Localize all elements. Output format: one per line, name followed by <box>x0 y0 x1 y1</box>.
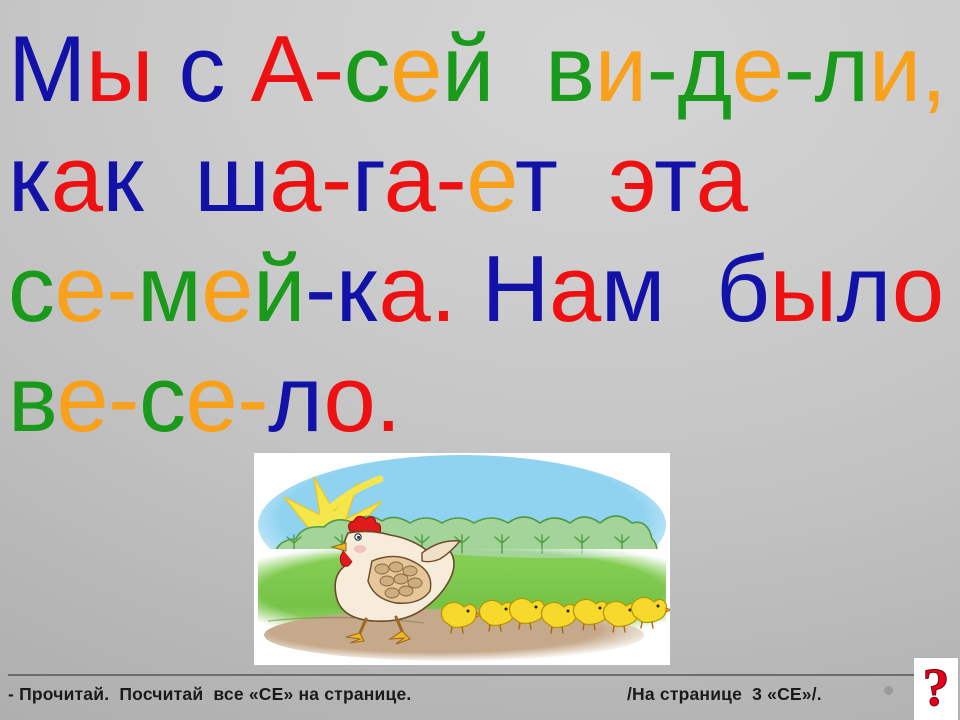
letter: М <box>8 16 86 121</box>
footer-bar: - Прочитай. Посчитай все «СЕ» на страниц… <box>0 666 960 720</box>
text-line-2: как ша-га-ет эта <box>8 124 960 234</box>
letter: е <box>732 16 784 121</box>
letter: а <box>384 126 436 231</box>
letter: - <box>313 16 344 121</box>
letter: и <box>869 16 921 121</box>
letter: - <box>647 16 678 121</box>
letter: е <box>185 346 237 451</box>
letter: е <box>390 16 442 121</box>
letter: ш <box>194 126 269 231</box>
letter: б <box>716 236 769 341</box>
letter: - <box>435 126 466 231</box>
text-line-1: Мы с А-сей ви-де-ли, <box>8 14 960 124</box>
letter: т <box>515 126 558 231</box>
letter: е <box>201 236 253 341</box>
letter: с <box>344 16 391 121</box>
letter <box>143 126 194 231</box>
letter: с <box>8 236 55 341</box>
letter: в <box>8 346 56 451</box>
illustration-svg <box>254 453 670 665</box>
letter: ы <box>769 236 836 341</box>
letter: - <box>321 126 352 231</box>
letter: а <box>696 126 748 231</box>
letter <box>225 16 251 121</box>
question-mark-icon: ? <box>923 660 950 714</box>
letter: а <box>549 236 601 341</box>
letter: , <box>921 16 947 121</box>
letter: л <box>814 16 868 121</box>
letter: - <box>108 346 139 451</box>
footer-divider <box>8 674 938 676</box>
slide-canvas: Мы с А-сей ви-де-ли, как ша-га-ет эта се… <box>0 0 960 720</box>
letter: г <box>352 126 384 231</box>
letter: а <box>379 236 431 341</box>
hen-and-chicks-illustration <box>254 453 670 665</box>
letter <box>153 16 179 121</box>
letter: - <box>106 236 137 341</box>
letter: к <box>336 236 379 341</box>
letter: . <box>375 346 401 451</box>
letter: й <box>442 16 494 121</box>
letter: е <box>466 126 515 231</box>
letter: й <box>253 236 305 341</box>
letter <box>665 236 716 341</box>
letter: о <box>892 236 944 341</box>
reading-text-block: Мы с А-сей ви-де-ли, как ша-га-ет эта се… <box>8 14 960 454</box>
letter <box>557 126 608 231</box>
text-line-3: се-мей-ка. Нам было <box>8 234 960 344</box>
letter: д <box>677 16 731 121</box>
letter <box>456 236 482 341</box>
letter: Н <box>482 236 549 341</box>
text-line-4: ве-се-ло. <box>8 344 960 454</box>
letter: А <box>251 16 313 121</box>
letter: а <box>269 126 321 231</box>
help-button[interactable]: ? <box>914 658 958 720</box>
letter: е <box>55 236 107 341</box>
letter: э <box>609 126 654 231</box>
letter: о <box>323 346 375 451</box>
letter: - <box>784 16 815 121</box>
letter: т <box>654 126 696 231</box>
letter: к <box>8 126 51 231</box>
letter: в <box>545 16 594 121</box>
letter: л <box>268 346 323 451</box>
letter: - <box>305 236 336 341</box>
letter: с <box>179 16 226 121</box>
letter: . <box>430 236 456 341</box>
letter: с <box>139 346 186 451</box>
letter: м <box>601 236 665 341</box>
letter: - <box>237 346 268 451</box>
letter: ы <box>86 16 153 121</box>
letter: а <box>51 126 103 231</box>
footer-task-text: - Прочитай. Посчитай все «СЕ» на страниц… <box>8 684 411 705</box>
letter: и <box>595 16 647 121</box>
footer-bullet-dot <box>884 686 893 695</box>
footer-answer-text: /На странице 3 «СЕ»/. <box>627 684 822 705</box>
letter: л <box>837 236 892 341</box>
letter: е <box>56 346 108 451</box>
letter <box>494 16 545 121</box>
letter: м <box>137 236 201 341</box>
letter: к <box>102 126 143 231</box>
